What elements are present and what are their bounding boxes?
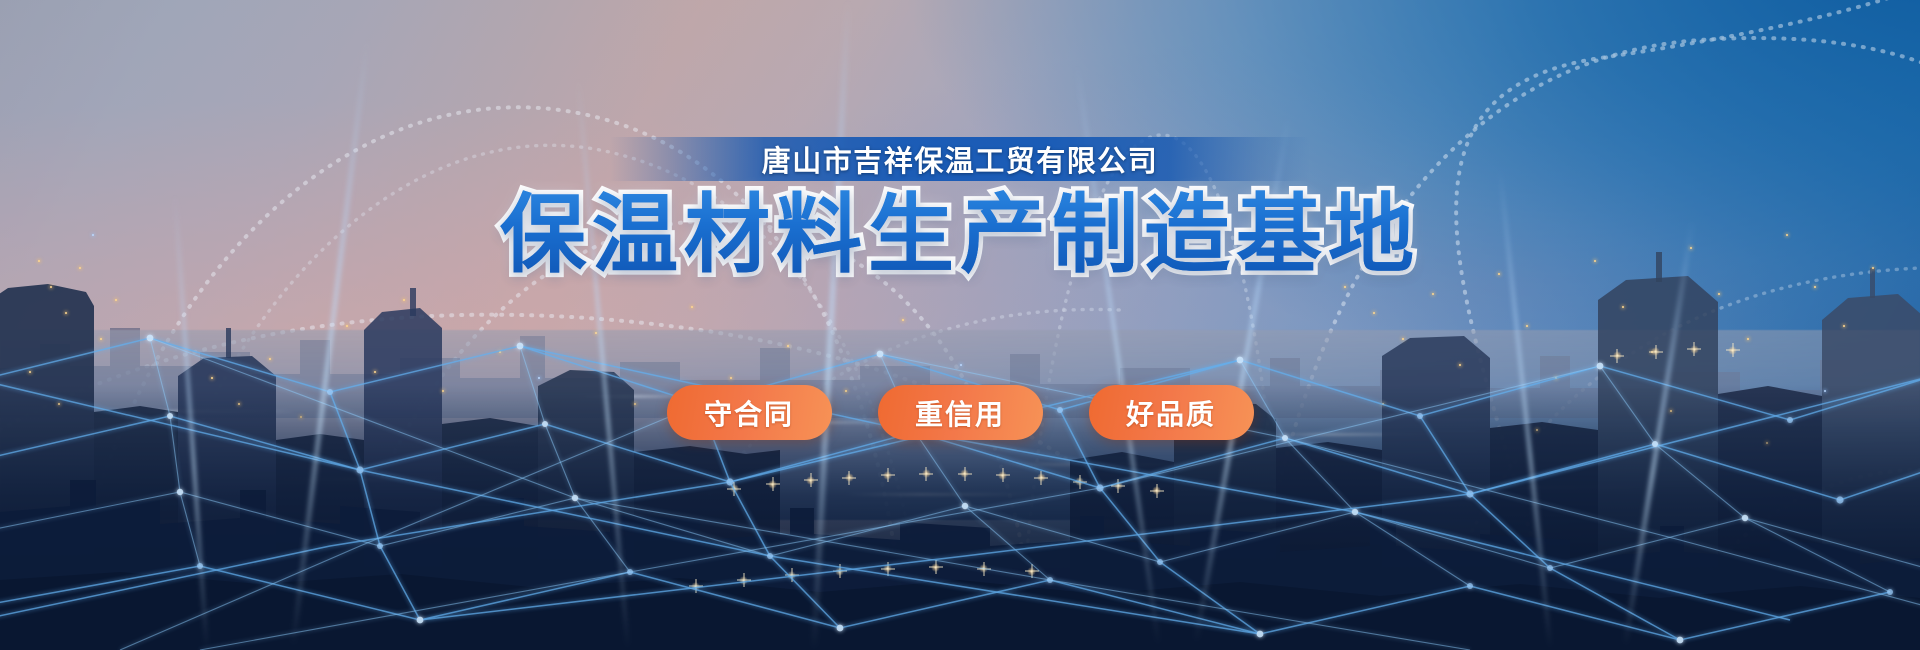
company-name-bar: 唐山市吉祥保温工贸有限公司 [610, 137, 1310, 181]
badge-list: 守合同 重信用 好品质 [0, 385, 1920, 440]
badge-hao-pin-zhi[interactable]: 好品质 [1089, 385, 1254, 440]
badge-zhong-xin-yong[interactable]: 重信用 [878, 385, 1043, 440]
headline-text: 保温材料生产制造基地 [0, 185, 1920, 286]
company-name: 唐山市吉祥保温工贸有限公司 [762, 138, 1159, 180]
badge-label: 好品质 [1126, 393, 1216, 433]
badge-label: 重信用 [915, 393, 1005, 433]
banner-content: 唐山市吉祥保温工贸有限公司 保温材料生产制造基地 保温材料生产制造基地 守合同 … [0, 0, 1920, 650]
hero-banner: .d { fill:none; stroke:#eef4fb; stroke-w… [0, 0, 1920, 650]
badge-shou-he-tong[interactable]: 守合同 [667, 385, 832, 440]
badge-label: 守合同 [704, 393, 794, 433]
